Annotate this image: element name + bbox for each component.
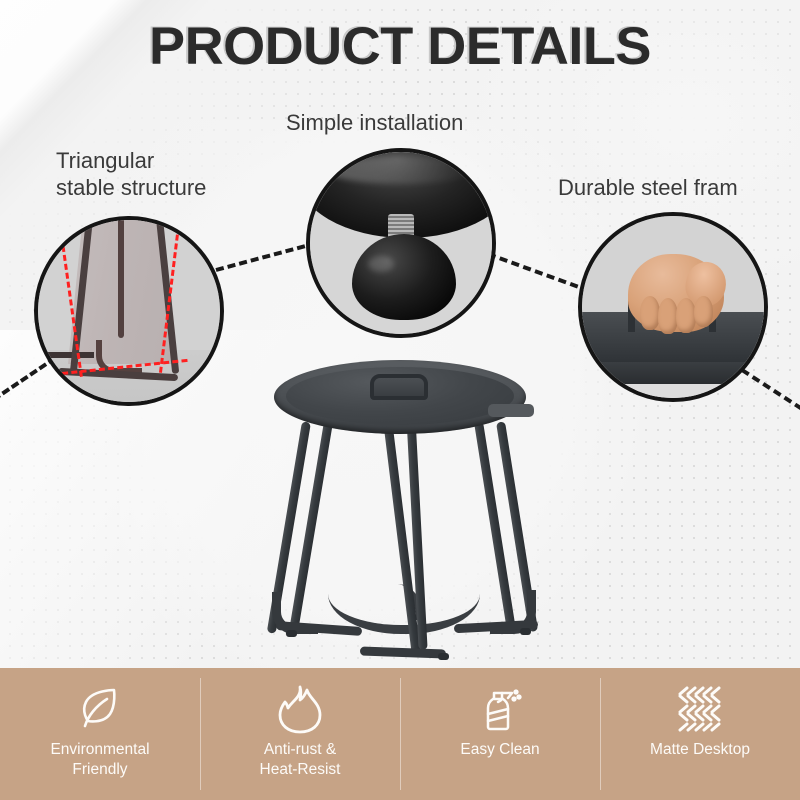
page-title: PRODUCT DETAILS [0, 16, 800, 77]
callout-circle-simple-installation [306, 148, 496, 338]
flame-icon [274, 682, 326, 734]
feature-label: Anti-rust & Heat-Resist [260, 740, 341, 780]
feature-easy-clean: Easy Clean [400, 668, 600, 800]
hand-handle-closeup-image [582, 216, 764, 398]
feature-label: Environmental Friendly [50, 740, 149, 780]
product-image-round-side-table [262, 356, 538, 666]
feature-label: Matte Desktop [650, 740, 750, 760]
callout-circle-triangular-stable-structure [34, 216, 224, 406]
callout-label-durable-steel-frame: Durable steel fram [558, 175, 738, 202]
leaf-icon [74, 682, 126, 734]
leg-triangle-closeup-image [38, 220, 220, 402]
tabletop-handle-cutout [370, 374, 428, 400]
feature-label: Easy Clean [460, 740, 539, 760]
herringbone-icon [674, 682, 726, 734]
feature-bar: Environmental Friendly Anti-rust & Heat-… [0, 668, 800, 800]
feature-anti-rust-heat-resist: Anti-rust & Heat-Resist [200, 668, 400, 800]
callout-label-simple-installation: Simple installation [286, 110, 463, 137]
feature-matte-desktop: Matte Desktop [600, 668, 800, 800]
foot-screw-closeup-image [310, 152, 492, 334]
callout-label-triangular-stable-structure: Triangular stable structure [56, 148, 206, 202]
infographic-canvas: PRODUCT DETAILS Triangular stable struct… [0, 0, 800, 800]
callout-circle-durable-steel-frame [578, 212, 768, 402]
feature-environmental-friendly: Environmental Friendly [0, 668, 200, 800]
spray-bottle-icon [474, 682, 526, 734]
